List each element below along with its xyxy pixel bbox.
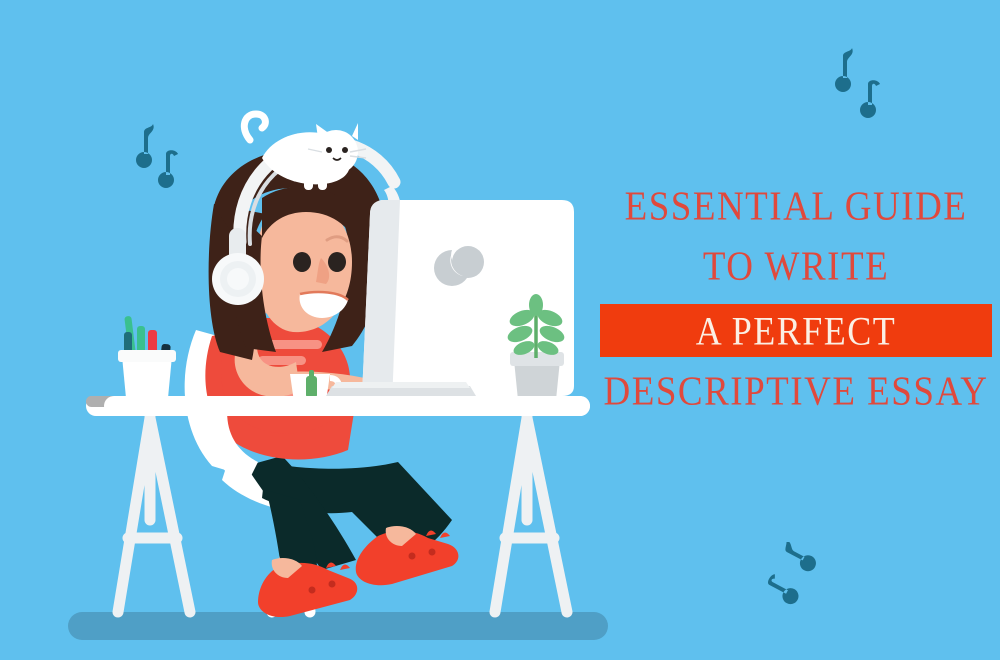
headline-block: ESSENTIAL GUIDE TO WRITE A PERFECT DESCR… — [600, 186, 992, 410]
illustration-girl-at-computer — [0, 0, 620, 660]
desk-leg-right — [495, 418, 567, 612]
poster-canvas: ESSENTIAL GUIDE TO WRITE A PERFECT DESCR… — [0, 0, 1000, 660]
music-note-icon-4 — [854, 78, 886, 120]
headline-highlight-band: A PERFECT — [600, 304, 992, 357]
headline-line-3: A PERFECT — [696, 310, 897, 350]
eye-right — [328, 252, 346, 272]
desk-top — [86, 396, 590, 416]
music-note-icon-5 — [780, 542, 820, 576]
desk-leg-left — [118, 418, 190, 612]
headline-line-1: ESSENTIAL GUIDE — [600, 186, 992, 235]
shoe-front — [258, 558, 357, 617]
music-note-icon-6 — [764, 574, 802, 608]
music-note-icon-2 — [152, 148, 184, 190]
headline-line-4: DESCRIPTIVE ESSAY — [600, 371, 992, 420]
keyboard — [326, 382, 476, 396]
pencil-cup — [118, 316, 176, 398]
headline-line-2: TO WRITE — [600, 246, 992, 295]
eye-left — [293, 252, 311, 272]
